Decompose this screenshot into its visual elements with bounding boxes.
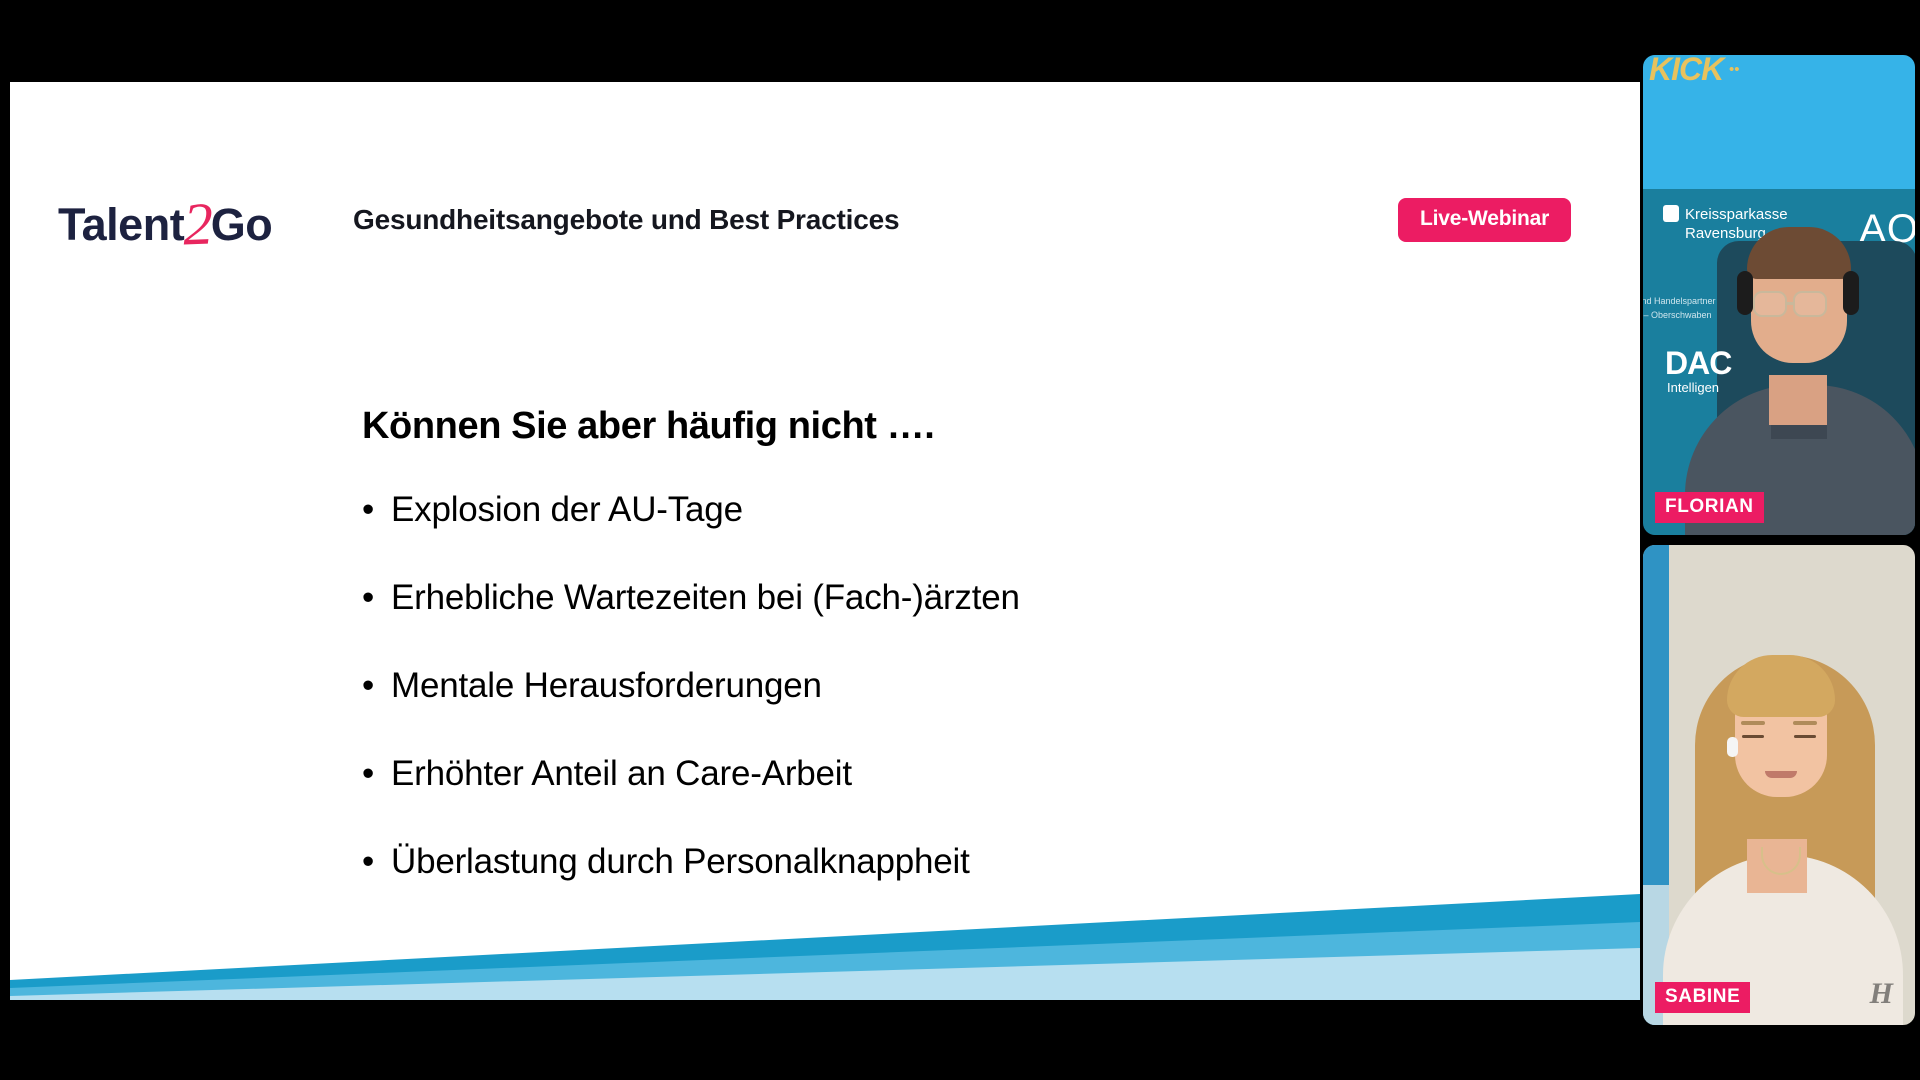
partner-line1: - und Handelspartner (1643, 296, 1716, 306)
florian-neck (1769, 375, 1827, 425)
bullet-text: Erhöhter Anteil an Care-Arbeit (391, 754, 852, 793)
partner-small-text: - und Handelspartner ee – Oberschwaben (1643, 295, 1716, 322)
kick-logo-text: KICK (1649, 55, 1723, 88)
bullet-text: Explosion der AU-Tage (391, 490, 743, 529)
watermark-logo: H (1870, 977, 1893, 1011)
sabine-eye-right (1794, 735, 1816, 738)
list-item: •Erhebliche Wartezeiten bei (Fach-)ärzte… (362, 580, 1020, 615)
list-item: •Explosion der AU-Tage (362, 492, 1020, 527)
earbud-icon (1727, 737, 1738, 757)
video-tile-florian[interactable]: KICK •• Kreissparkasse Ravensburg AO - u… (1643, 55, 1915, 535)
participant-name-badge: SABINE (1655, 982, 1750, 1013)
bullet-marker-icon: • (362, 580, 391, 615)
dac-subtitle-text: Intelligen (1667, 380, 1719, 395)
bullet-text: Mentale Herausforderungen (391, 666, 822, 705)
dac-logo-text: DAC (1665, 345, 1731, 382)
kick-dots-icon: •• (1729, 61, 1740, 78)
glasses-right-lens (1793, 291, 1827, 317)
logo-text-part2: 2 (182, 194, 214, 255)
partner-line2: ee – Oberschwaben (1643, 310, 1712, 320)
kreissparkasse-line1: Kreissparkasse (1685, 206, 1788, 223)
sabine-eye-left (1742, 735, 1764, 738)
slide-title: Gesundheitsangebote und Best Practices (353, 204, 899, 236)
bullet-marker-icon: • (362, 492, 391, 527)
list-item: •Erhöhter Anteil an Care-Arbeit (362, 756, 1020, 791)
florian-background-sky: KICK •• (1643, 55, 1915, 189)
sparkasse-s-icon (1663, 205, 1679, 222)
glasses-left-lens (1753, 291, 1787, 317)
headphone-left-icon (1737, 271, 1753, 315)
slide-heading: Können Sie aber häufig nicht …. (362, 405, 934, 448)
glasses-bridge (1787, 302, 1795, 305)
sabine-eyebrow-right (1793, 721, 1817, 725)
live-webinar-badge: Live-Webinar (1398, 198, 1571, 242)
logo-text-part1: Talent (58, 199, 184, 250)
logo-text-part3: Go (211, 199, 273, 250)
sabine-mouth (1765, 771, 1797, 778)
video-tile-sabine[interactable]: SABINE H (1643, 545, 1915, 1025)
participant-name-badge: FLORIAN (1655, 492, 1764, 523)
list-item: •Mentale Herausforderungen (362, 668, 1020, 703)
sabine-eyebrow-left (1741, 721, 1765, 725)
bullet-marker-icon: • (362, 756, 391, 791)
bullet-marker-icon: • (362, 668, 391, 703)
bullet-text: Erhebliche Wartezeiten bei (Fach-)ärzten (391, 578, 1020, 617)
presentation-slide[interactable]: Talent2Go Gesundheitsangebote und Best P… (10, 82, 1640, 1000)
slide-header: Talent2Go Gesundheitsangebote und Best P… (10, 82, 1640, 222)
meeting-stage: Talent2Go Gesundheitsangebote und Best P… (0, 0, 1920, 1080)
talent2go-logo: Talent2Go (58, 190, 272, 250)
slide-wave-decoration (10, 860, 1640, 1000)
headphone-right-icon (1843, 271, 1859, 315)
